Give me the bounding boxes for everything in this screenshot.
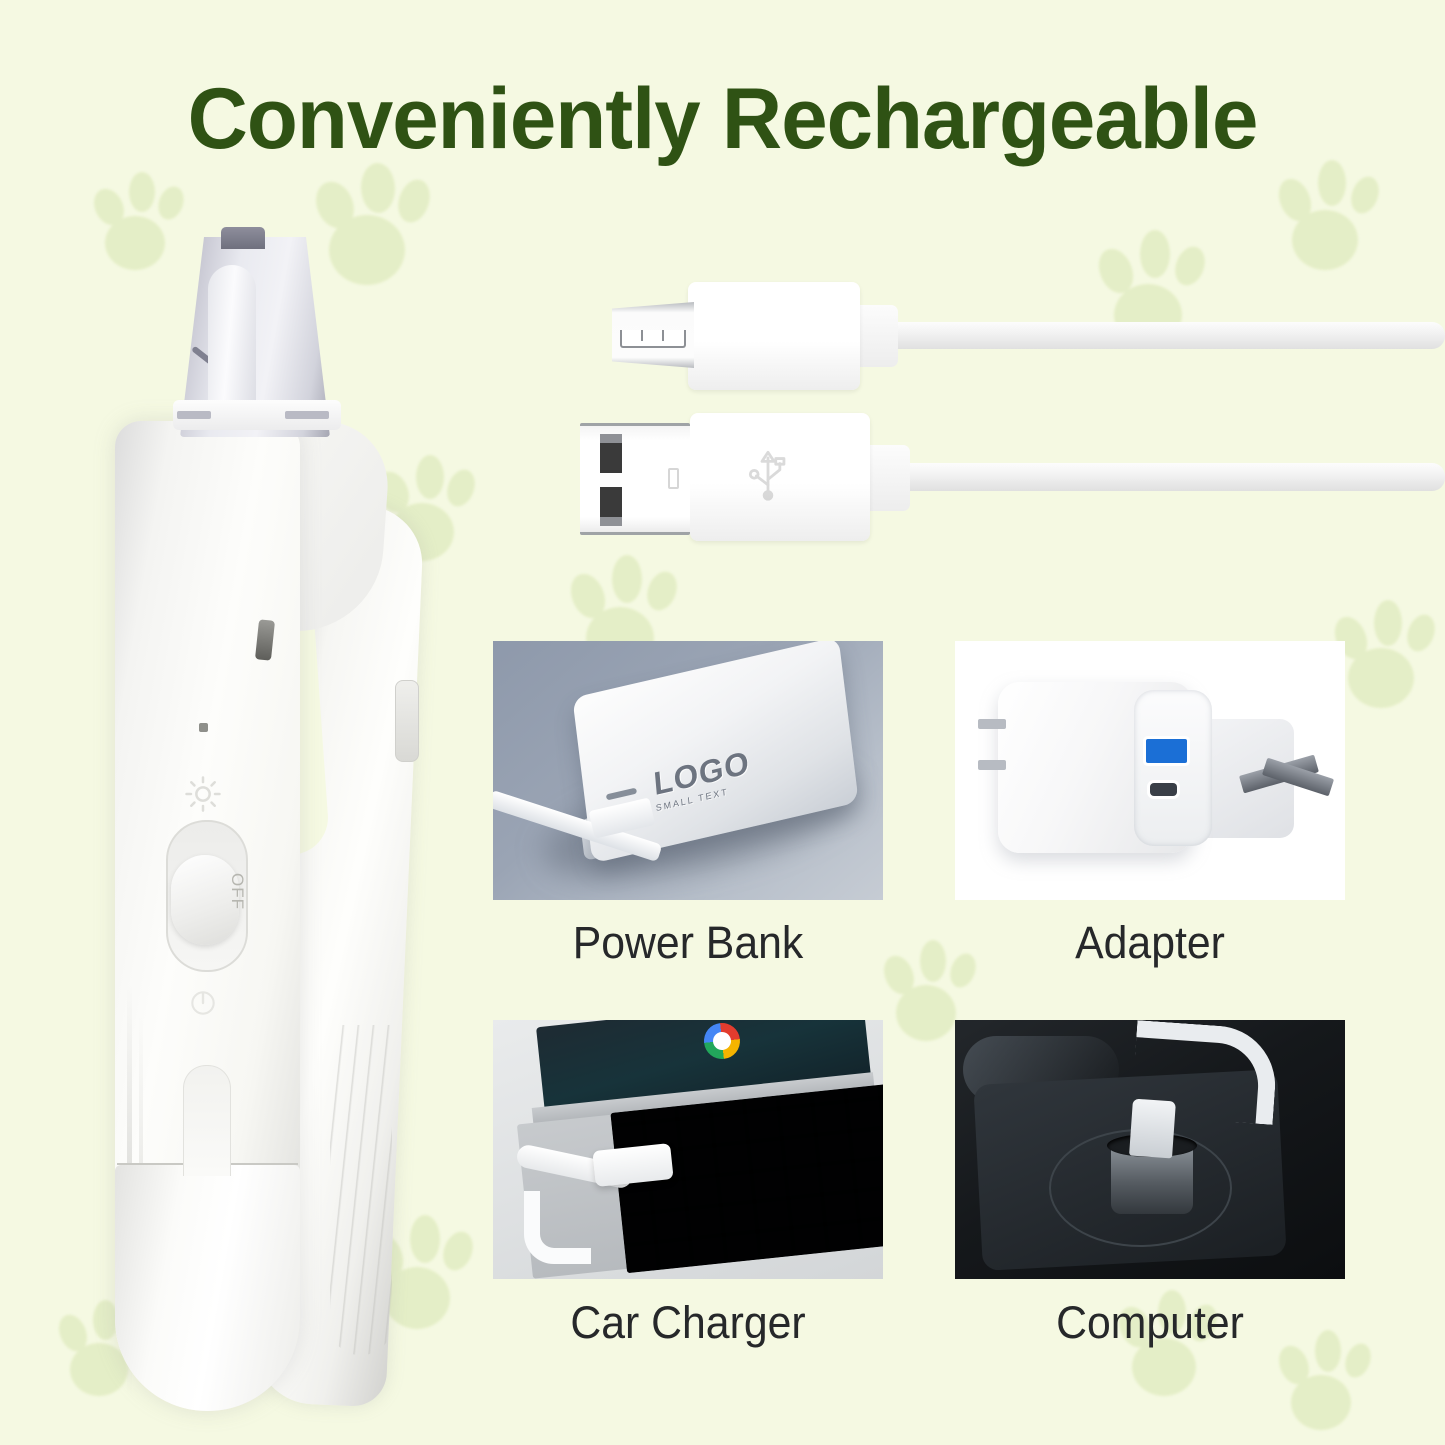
paw-print-icon [1280, 1330, 1376, 1434]
laptop-usb-photo [493, 1020, 883, 1279]
led-indicator-icon [199, 723, 208, 732]
nail-clipper-product-image: OFF [105, 225, 445, 1385]
light-brightness-icon [184, 775, 222, 813]
clipper-bottom-cap [115, 1165, 300, 1411]
charging-option-label-car-charger: Car Charger [503, 1300, 874, 1345]
usb-a-pad-shadow-top [600, 434, 622, 443]
charging-option-label-adapter: Adapter [965, 920, 1336, 965]
wall-adapter-photo [955, 641, 1345, 900]
clipper-handle-grip-lines [330, 1025, 392, 1355]
usb-a-alignment-slot [668, 468, 679, 489]
car-charger-socket-photo [955, 1020, 1345, 1279]
usb-trident-icon [742, 445, 794, 501]
micro-usb-contact-pins [620, 330, 686, 348]
clipper-guard-tip [221, 227, 265, 249]
adapter-side-pin-top [978, 719, 1005, 729]
paw-print-icon [1280, 160, 1384, 274]
page-title: Conveniently Rechargeable [22, 76, 1424, 162]
micro-usb-wire [880, 322, 1445, 349]
micro-usb-housing [688, 282, 860, 390]
adapter-usb-c-port [1150, 783, 1177, 796]
adapter-usb-a-port [1146, 739, 1187, 762]
charging-option-tile: LOGO SMALL TEXT [493, 641, 883, 900]
charging-option-label-power-bank: Power Bank [503, 920, 874, 965]
charging-option-tile [493, 1020, 883, 1279]
charging-option-tile [955, 641, 1345, 900]
clipper-cap-notch [183, 1065, 231, 1176]
product-infographic: Conveniently Rechargeable [0, 0, 1445, 1445]
clipper-blade-slot-left [177, 411, 211, 419]
usb-a-contact-pad-top [600, 443, 622, 473]
car-charger-cable [1131, 1020, 1279, 1124]
paw-print-icon [1336, 600, 1440, 712]
usb-a-pad-shadow-bottom [600, 517, 622, 526]
charging-option-tile [955, 1020, 1345, 1279]
clipper-blade-slot-right [285, 411, 329, 419]
usb-a-contact-pad-bottom [600, 487, 622, 517]
power-bank-photo: LOGO SMALL TEXT [493, 641, 883, 900]
adapter-port-face [1134, 690, 1212, 845]
power-icon [187, 987, 219, 1019]
usb-a-wire [890, 463, 1445, 491]
charging-option-label-computer: Computer [965, 1300, 1336, 1345]
adapter-side-pin-bottom [978, 760, 1005, 770]
clipper-inner-blade [208, 265, 256, 415]
clipper-side-button[interactable] [395, 680, 419, 762]
switch-off-label: OFF [227, 873, 247, 910]
laptop-cable-loop [524, 1191, 591, 1264]
